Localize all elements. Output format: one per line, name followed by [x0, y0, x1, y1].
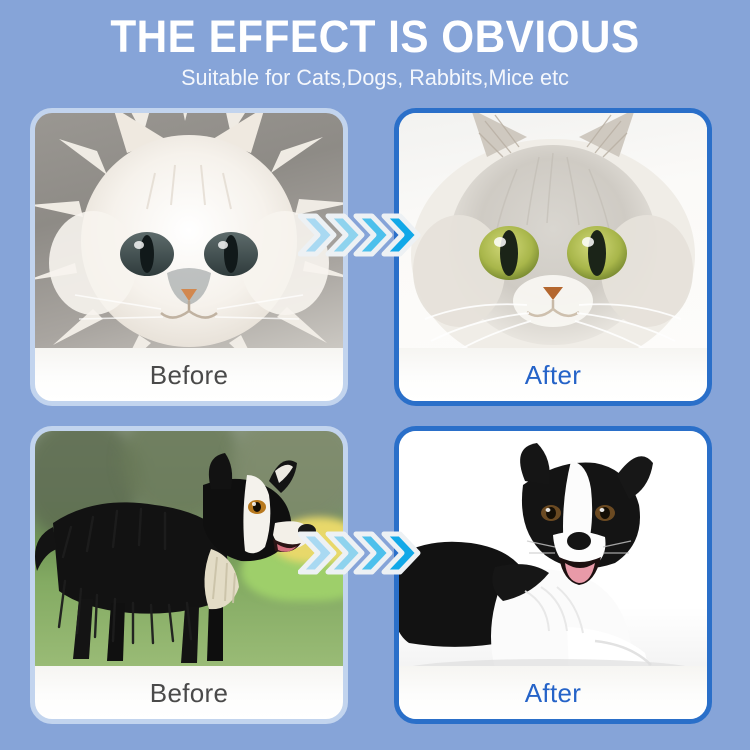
chevron-right-icon	[356, 216, 390, 254]
page-subtitle: Suitable for Cats,Dogs, Rabbits,Mice etc	[15, 62, 735, 92]
card-after-cat: After	[394, 108, 712, 406]
label-before: Before	[150, 678, 228, 708]
dog-after-illustration	[399, 431, 707, 676]
cat-before-illustration	[35, 113, 343, 358]
photo-after-dog	[399, 431, 707, 676]
photo-after-cat	[399, 113, 707, 358]
page-title: THE EFFECT IS OBVIOUS	[23, 0, 728, 62]
caption-band-before-dog: Before	[35, 666, 343, 719]
dog-before-illustration	[35, 431, 343, 676]
photo-before-cat	[35, 113, 343, 358]
caption-band-before-cat: Before	[35, 348, 343, 401]
label-before: Before	[150, 360, 228, 390]
card-after-dog: After	[394, 426, 712, 724]
caption-band-after-cat: After	[399, 348, 707, 401]
comparison-row-cat: Before	[0, 108, 750, 406]
label-after: After	[525, 678, 581, 708]
card-before-dog: Before	[30, 426, 348, 724]
caption-band-after-dog: After	[399, 666, 707, 719]
header-banner: THE EFFECT IS OBVIOUS Suitable for Cats,…	[0, 0, 750, 104]
cat-after-illustration	[399, 113, 707, 358]
label-after: After	[525, 360, 581, 390]
comparison-grid: Before	[0, 108, 750, 738]
photo-before-dog	[35, 431, 343, 676]
chevron-right-icon	[356, 534, 390, 572]
comparison-row-dog: Before	[0, 426, 750, 724]
card-before-cat: Before	[30, 108, 348, 406]
